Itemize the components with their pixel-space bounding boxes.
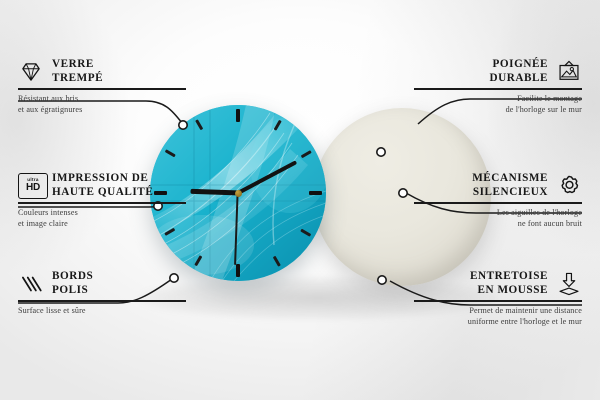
feature-title: ENTRETOISEEN MOUSSE bbox=[470, 270, 548, 297]
feature-poignee-durable: POIGNÉEDURABLE Facilite le montagede l'h… bbox=[414, 58, 582, 116]
feature-description: Surface lisse et sûre bbox=[18, 306, 186, 317]
feature-title: POIGNÉEDURABLE bbox=[489, 58, 548, 85]
diamond-icon bbox=[18, 59, 44, 85]
feature-rule bbox=[18, 300, 186, 302]
feature-bords-polis: BORDSPOLIS Surface lisse et sûre bbox=[18, 270, 186, 317]
foam-spacer-icon bbox=[556, 271, 582, 297]
feature-header: MÉCANISMESILENCIEUX bbox=[414, 172, 582, 199]
feature-header: VERRETREMPÉ bbox=[18, 58, 186, 85]
clock-center-cap bbox=[235, 190, 242, 197]
ultra-hd-icon: ultra HD bbox=[18, 173, 44, 199]
feature-title: VERRETREMPÉ bbox=[52, 58, 103, 85]
feature-header: POIGNÉEDURABLE bbox=[414, 58, 582, 85]
feature-description: Résistant aux briset aux égratignures bbox=[18, 94, 186, 116]
feature-description: Permet de maintenir une distanceuniforme… bbox=[414, 306, 582, 328]
polished-edges-icon bbox=[18, 271, 44, 297]
gear-icon bbox=[556, 173, 582, 199]
feature-rule bbox=[18, 202, 186, 204]
infographic-canvas: VERRETREMPÉ Résistant aux briset aux égr… bbox=[0, 0, 600, 400]
feature-rule bbox=[414, 202, 582, 204]
hanging-frame-icon bbox=[556, 59, 582, 85]
feature-header: BORDSPOLIS bbox=[18, 270, 186, 297]
feature-verre-trempe: VERRETREMPÉ Résistant aux briset aux égr… bbox=[18, 58, 186, 116]
feature-rule bbox=[414, 300, 582, 302]
feature-header: ENTRETOISEEN MOUSSE bbox=[414, 270, 582, 297]
feature-description: Les aiguilles de l'horlogene font aucun … bbox=[414, 208, 582, 230]
feature-title: MÉCANISMESILENCIEUX bbox=[472, 172, 548, 199]
feature-rule bbox=[414, 88, 582, 90]
feature-title: IMPRESSION DEHAUTE QUALITÉ bbox=[52, 172, 153, 199]
feature-description: Couleurs intenseset image claire bbox=[18, 208, 186, 230]
feature-mecanisme-silencieux: MÉCANISMESILENCIEUX Les aiguilles de l'h… bbox=[414, 172, 582, 230]
feature-description: Facilite le montagede l'horloge sur le m… bbox=[414, 94, 582, 116]
feature-rule bbox=[18, 88, 186, 90]
feature-impression-haute-qualite: ultra HD IMPRESSION DEHAUTE QUALITÉ Coul… bbox=[18, 172, 186, 230]
feature-header: ultra HD IMPRESSION DEHAUTE QUALITÉ bbox=[18, 172, 186, 199]
feature-entretoise-en-mousse: ENTRETOISEEN MOUSSE Permet de maintenir … bbox=[414, 270, 582, 328]
feature-title: BORDSPOLIS bbox=[52, 270, 93, 297]
